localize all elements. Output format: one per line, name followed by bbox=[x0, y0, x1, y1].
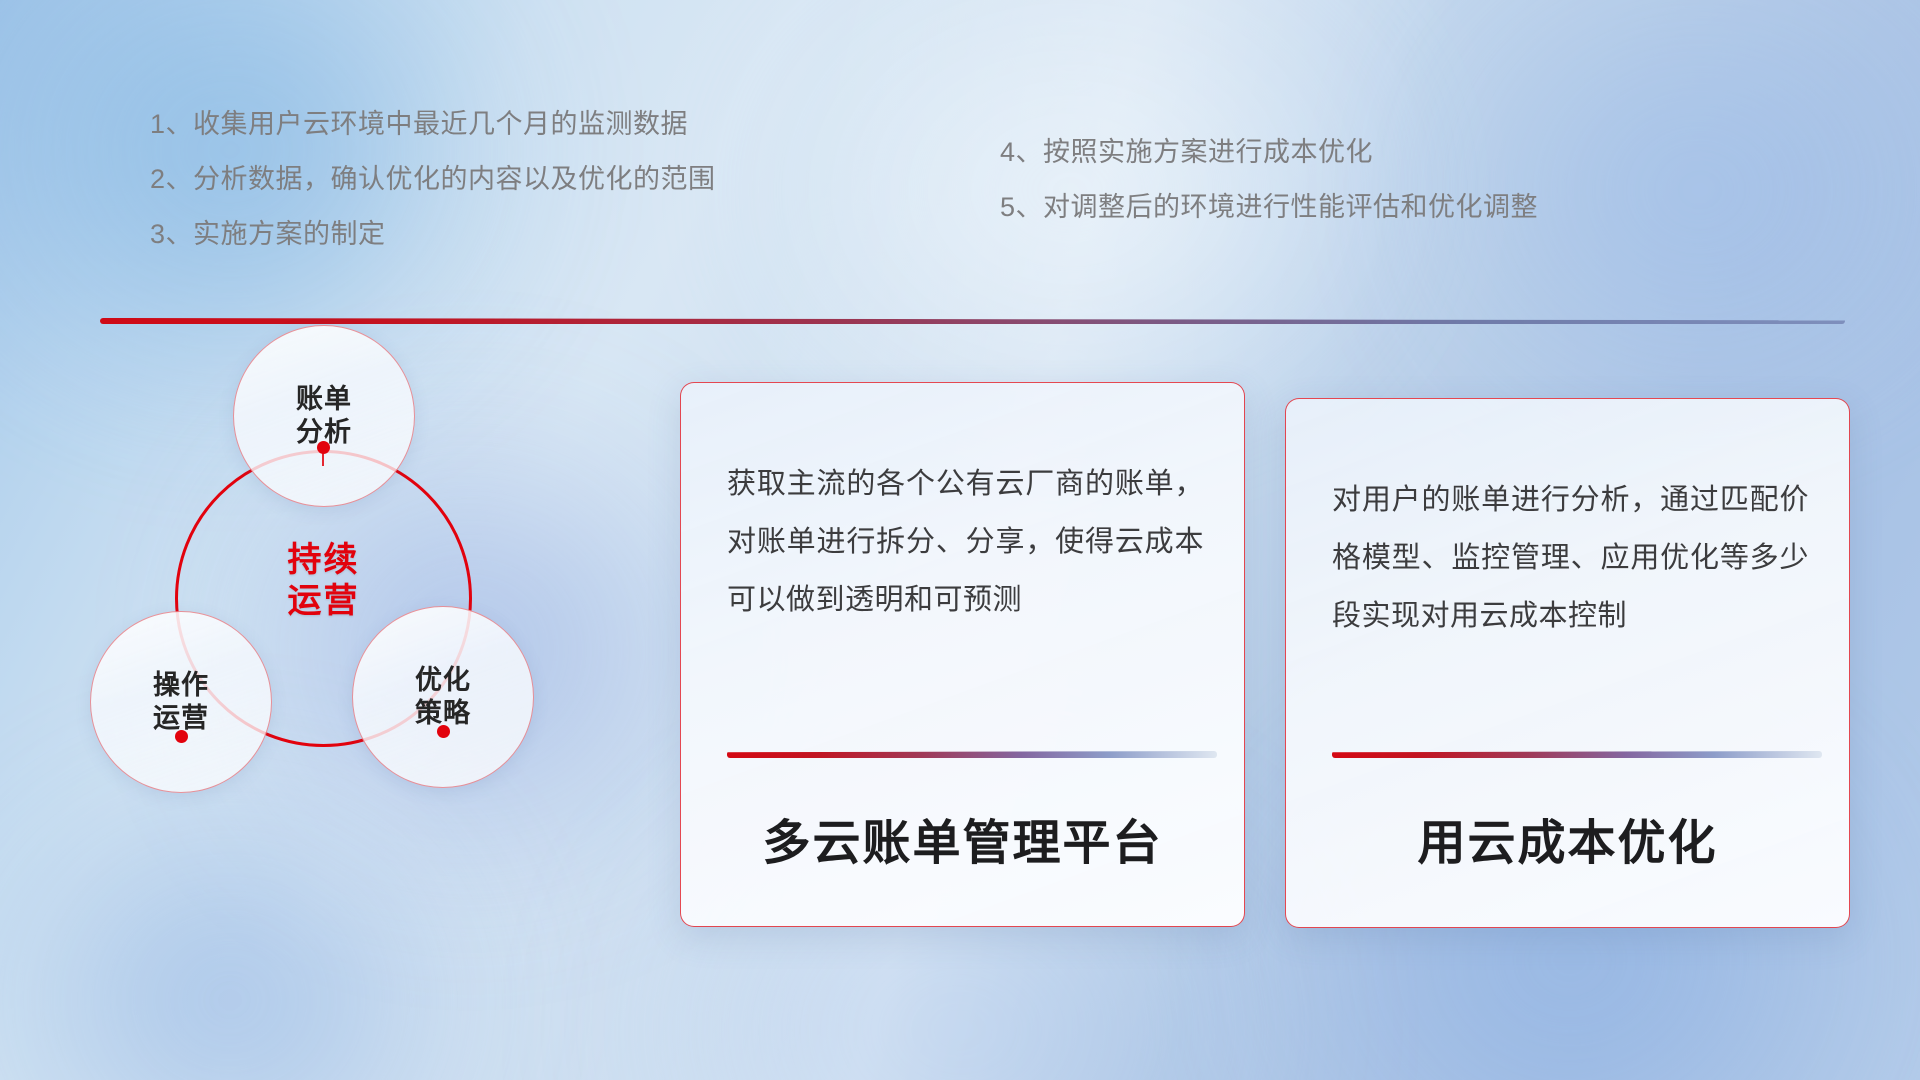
step-item-5: 5、对调整后的环境进行性能评估和优化调整 bbox=[1000, 185, 1538, 224]
continuous-operation-diagram: 持续 运营 账单 分析 操作 运营 优化 策略 bbox=[90, 340, 560, 940]
step-item-2: 2、分析数据，确认优化的内容以及优化的范围 bbox=[150, 157, 716, 196]
step-item-3: 3、实施方案的制定 bbox=[150, 212, 386, 251]
card1-body-text: 获取主流的各个公有云厂商的账单，对账单进行拆分、分享，使得云成本可以做到透明和可… bbox=[727, 455, 1204, 629]
venn-circle-operations[interactable]: 操作 运营 bbox=[90, 611, 272, 793]
venn-node-tail-top bbox=[322, 452, 324, 466]
optimization-strategy-line-1: 优化 bbox=[415, 664, 471, 697]
operations-line-1: 操作 bbox=[153, 669, 209, 702]
billing-analysis-line-1: 账单 bbox=[296, 383, 352, 416]
venn-circle-billing-analysis[interactable]: 账单 分析 bbox=[233, 325, 415, 507]
venn-node-dot-bottom-left bbox=[175, 730, 188, 743]
card2-title: 用云成本优化 bbox=[1286, 803, 1849, 873]
venn-circle-optimization-strategy-label: 优化 策略 bbox=[415, 664, 471, 730]
step-item-1: 1、收集用户云环境中最近几个月的监测数据 bbox=[150, 102, 688, 141]
center-label-line-1: 持续 bbox=[175, 540, 472, 581]
venn-node-dot-bottom-right bbox=[437, 725, 450, 738]
card-cloud-cost-optimization[interactable]: 对用户的账单进行分析，通过匹配价格模型、监控管理、应用优化等多少段实现对用云成本… bbox=[1285, 398, 1850, 928]
venn-circle-optimization-strategy[interactable]: 优化 策略 bbox=[352, 606, 534, 788]
card2-body-text: 对用户的账单进行分析，通过匹配价格模型、监控管理、应用优化等多少段实现对用云成本… bbox=[1332, 471, 1809, 645]
step-item-4: 4、按照实施方案进行成本优化 bbox=[1000, 130, 1373, 169]
card-multi-cloud-billing-platform[interactable]: 获取主流的各个公有云厂商的账单，对账单进行拆分、分享，使得云成本可以做到透明和可… bbox=[680, 382, 1245, 927]
card2-divider bbox=[1332, 751, 1822, 758]
card1-title: 多云账单管理平台 bbox=[681, 803, 1244, 873]
card1-divider bbox=[727, 751, 1217, 758]
venn-circle-billing-analysis-label: 账单 分析 bbox=[296, 383, 352, 449]
venn-circle-operations-label: 操作 运营 bbox=[153, 669, 209, 735]
